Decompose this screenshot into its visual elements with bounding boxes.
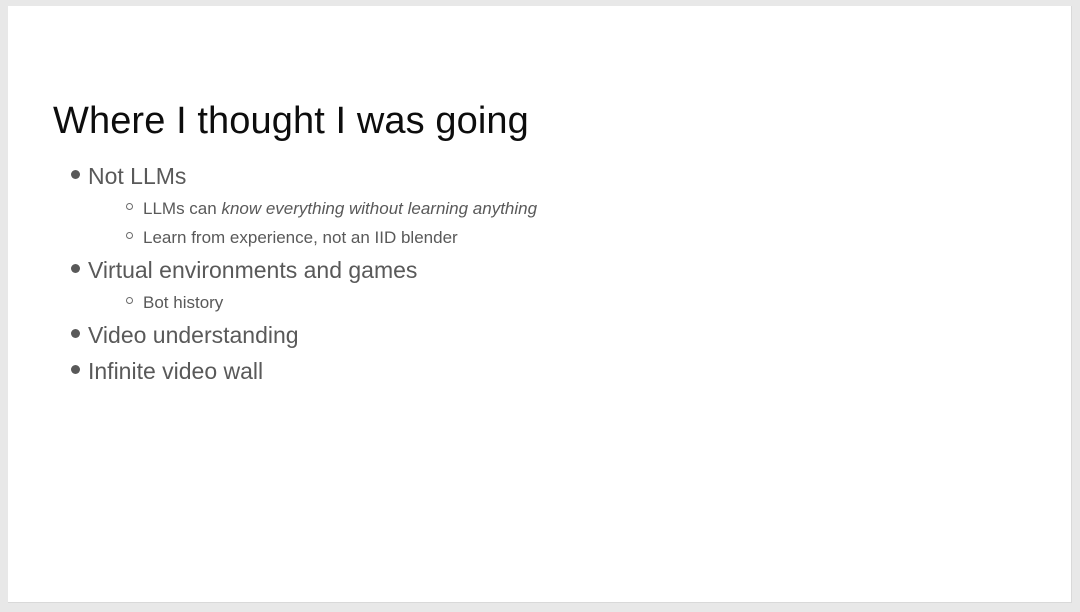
bullet-disc-icon: [53, 370, 88, 379]
list-item-label-plain: LLMs can: [143, 199, 221, 218]
bullet-disc-icon: [53, 269, 88, 278]
bullet-list: Not LLMs LLMs can know everything withou…: [53, 158, 1013, 389]
bullet-circle-icon: [53, 207, 143, 214]
bullet-disc-icon: [53, 334, 88, 343]
list-item: Video understanding: [53, 317, 1013, 353]
list-item-label: Video understanding: [88, 317, 299, 353]
list-item: Learn from experience, not an IID blende…: [53, 223, 1013, 252]
list-item-label: Infinite video wall: [88, 353, 263, 389]
list-item-label: Virtual environments and games: [88, 252, 417, 288]
slide-title: Where I thought I was going: [53, 97, 529, 145]
list-item-label-emphasis: know everything without learning anythin…: [221, 199, 537, 218]
bullet-circle-icon: [53, 236, 143, 243]
list-item-label: Bot history: [143, 288, 223, 317]
list-item-label: Not LLMs: [88, 158, 186, 194]
list-item-label: Learn from experience, not an IID blende…: [143, 223, 458, 252]
list-item: Not LLMs: [53, 158, 1013, 194]
slide-canvas: Where I thought I was going Not LLMs LLM…: [8, 6, 1072, 603]
list-item-label: LLMs can know everything without learnin…: [143, 194, 537, 223]
list-item: Virtual environments and games: [53, 252, 1013, 288]
bullet-disc-icon: [53, 175, 88, 184]
list-item: Bot history: [53, 288, 1013, 317]
list-item: Infinite video wall: [53, 353, 1013, 389]
bullet-circle-icon: [53, 301, 143, 308]
list-item: LLMs can know everything without learnin…: [53, 194, 1013, 223]
